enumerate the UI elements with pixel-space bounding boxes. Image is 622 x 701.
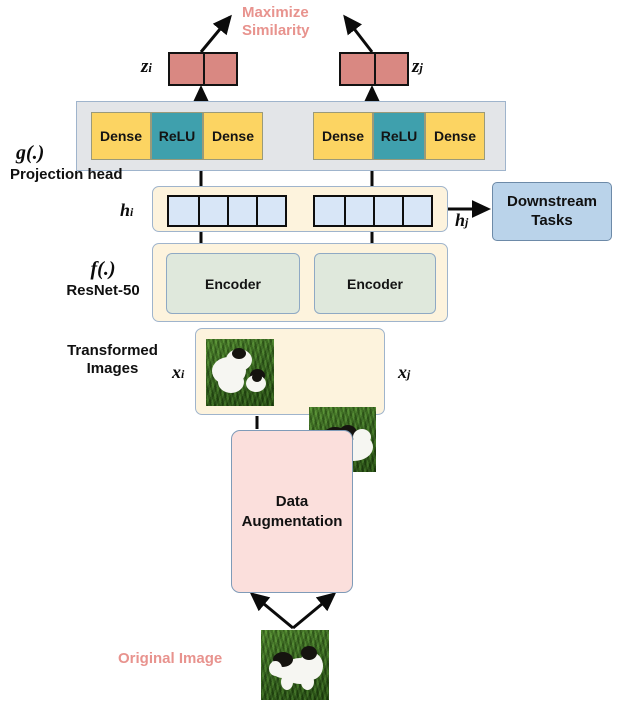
maximize-similarity-line2: Similarity [242, 22, 372, 40]
h-i-cell [227, 197, 256, 225]
h-j-cell [315, 197, 344, 225]
encoder-function-label: f(.) [48, 258, 158, 281]
x-j-subscript: j [407, 367, 410, 381]
transformed-images-panel [195, 328, 385, 415]
encoder-label-group: f(.) ResNet-50 [48, 258, 158, 300]
h-i-label: hi [120, 200, 133, 221]
projection-head-function-label: g(.) [10, 142, 160, 165]
data-augmentation-box[interactable]: Data Augmentation [231, 430, 353, 593]
z-i-cell [203, 54, 236, 84]
transformed-images-line1: Transformed [50, 342, 175, 360]
transformed-image-xi [206, 339, 274, 406]
h-i-vector [167, 195, 287, 227]
arrow-original-to-aug-right [293, 594, 334, 628]
h-j-cell [402, 197, 431, 225]
h-i-symbol: h [120, 200, 130, 220]
z-i-vector [168, 52, 238, 86]
dense-block-j-2: Dense [425, 112, 485, 160]
h-j-vector [313, 195, 433, 227]
h-i-subscript: i [130, 205, 133, 219]
z-j-subscript: j [419, 61, 422, 75]
relu-block-j: ReLU [373, 112, 425, 160]
arrow-original-to-aug-left [252, 594, 293, 628]
x-i-symbol: x [172, 362, 181, 382]
h-j-cell [373, 197, 402, 225]
downstream-tasks-box[interactable]: Downstream Tasks [492, 182, 612, 241]
dog-shape-xi [206, 339, 274, 406]
encoder-box-i: Encoder [166, 253, 300, 314]
encoder-box-j: Encoder [314, 253, 436, 314]
z-j-cell [374, 54, 407, 84]
maximize-similarity-line1: Maximize [242, 4, 372, 22]
z-j-vector [339, 52, 409, 86]
x-i-label: xi [172, 362, 184, 383]
h-i-cell [256, 197, 285, 225]
downstream-tasks-line1: Downstream [507, 193, 597, 212]
dog-shape-original [261, 630, 329, 700]
projection-head-branch-j: Dense ReLU Dense [313, 112, 485, 160]
x-i-subscript: i [181, 367, 184, 381]
z-i-subscript: i [148, 61, 151, 75]
z-i-cell [170, 54, 203, 84]
projection-head-name: Projection head [10, 166, 160, 184]
x-j-label: xj [398, 362, 410, 383]
diagram-canvas: Maximize Similarity zi zj Dense ReLU Den… [0, 0, 622, 701]
h-j-subscript: j [465, 215, 468, 229]
transformed-images-line2: Images [50, 360, 175, 378]
encoder-name: ResNet-50 [48, 282, 158, 300]
downstream-tasks-line2: Tasks [531, 212, 572, 231]
h-j-symbol: h [455, 210, 465, 230]
h-i-cell [198, 197, 227, 225]
original-image-label: Original Image [118, 650, 222, 668]
data-augmentation-line2: Augmentation [242, 512, 343, 532]
h-j-cell [344, 197, 373, 225]
original-image [261, 630, 329, 700]
z-i-label: zi [141, 56, 152, 78]
projection-head-label-group: g(.) Projection head [10, 142, 160, 184]
arrow-zi-to-maximize [201, 17, 230, 52]
x-j-symbol: x [398, 362, 407, 382]
h-i-cell [169, 197, 198, 225]
dense-block-j-1: Dense [313, 112, 373, 160]
representation-panel [152, 186, 448, 232]
z-j-cell [341, 54, 374, 84]
z-j-label: zj [412, 56, 423, 78]
encoder-panel: Encoder Encoder [152, 243, 448, 322]
maximize-similarity-label: Maximize Similarity [242, 4, 372, 40]
data-augmentation-line1: Data [276, 492, 309, 512]
transformed-images-label: Transformed Images [50, 342, 175, 377]
dense-block-i-2: Dense [203, 112, 263, 160]
h-j-label: hj [455, 210, 468, 231]
